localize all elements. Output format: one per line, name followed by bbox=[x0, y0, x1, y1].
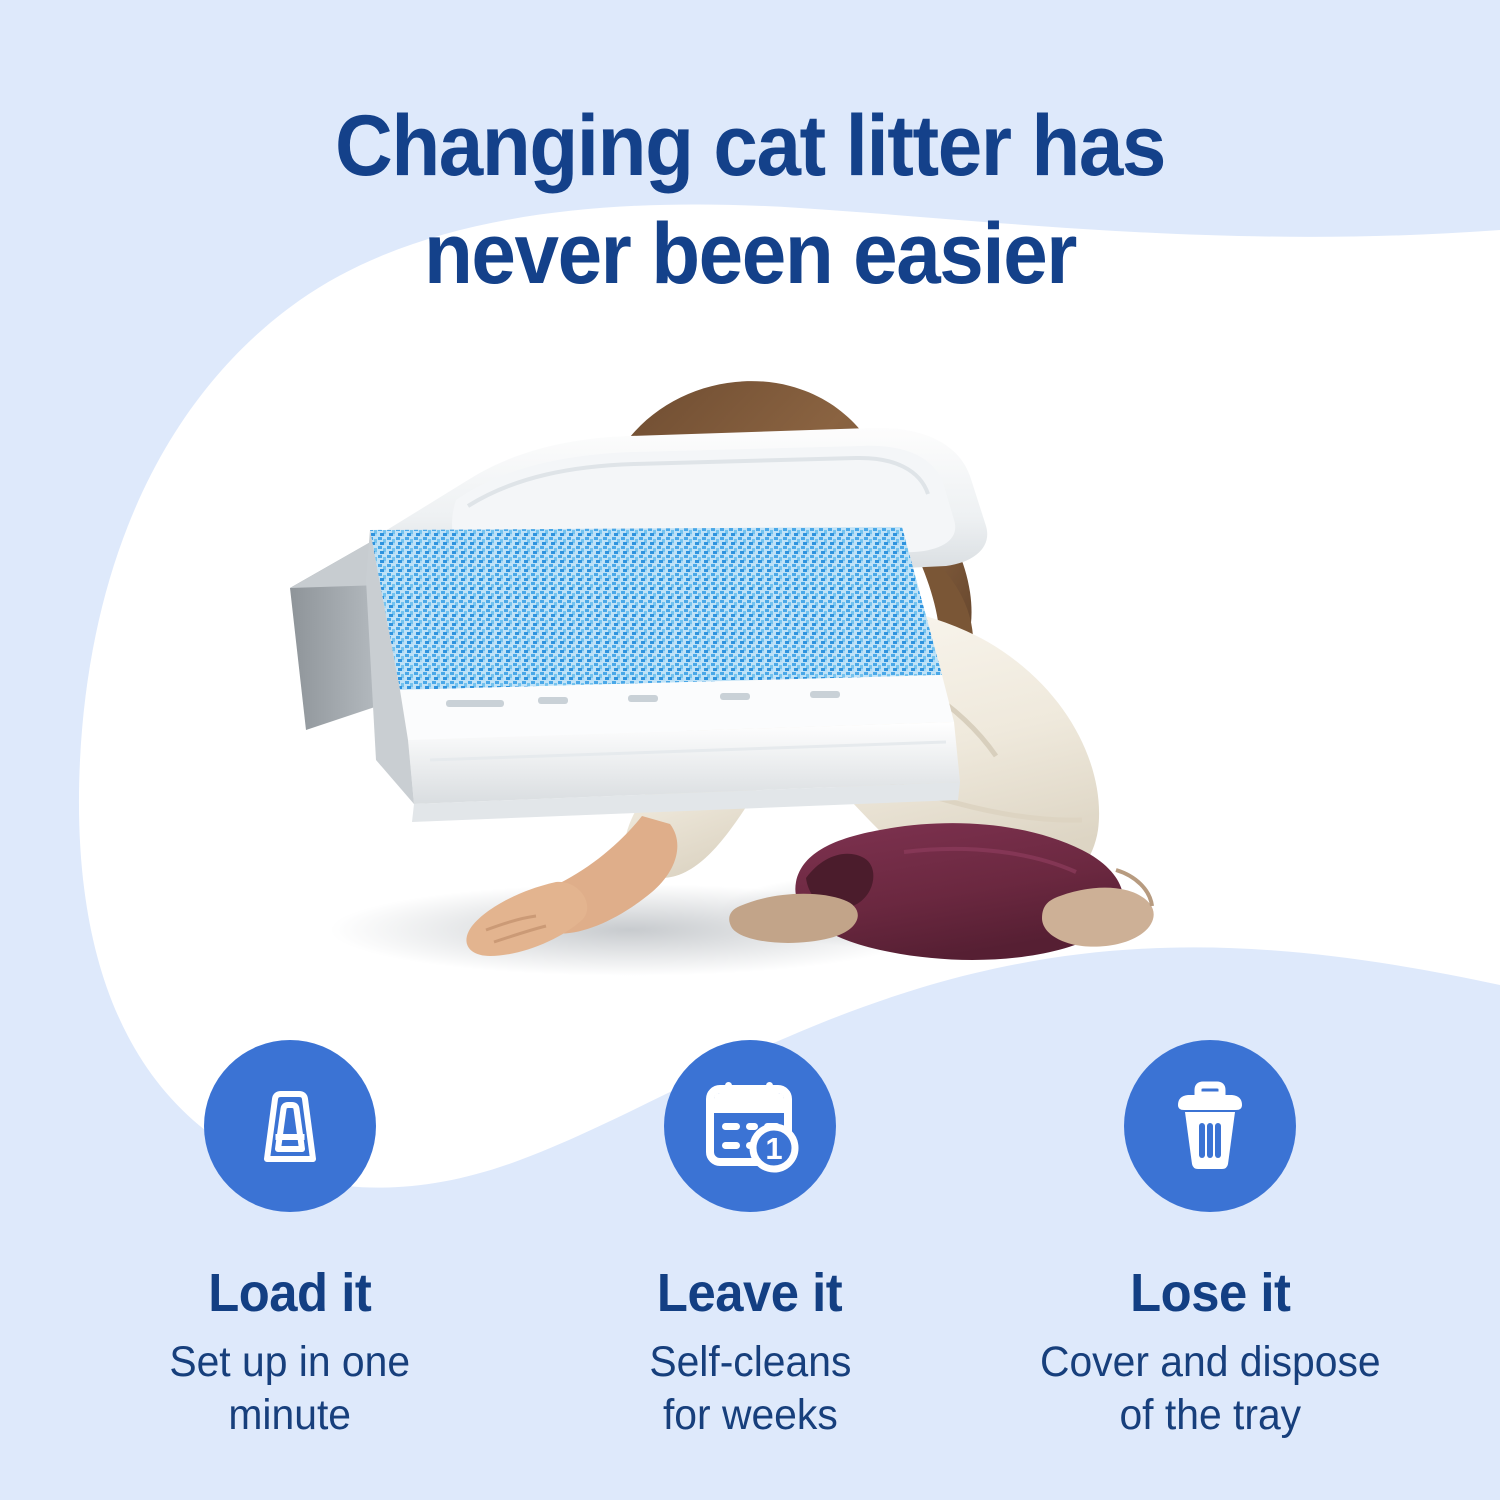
headline-line-1: Changing cat litter has bbox=[53, 92, 1448, 200]
feature-leave-it: 1 Leave it Self-cleans for weeks bbox=[520, 1040, 980, 1470]
litter-tray-icon bbox=[204, 1040, 376, 1212]
feature-lose-it: Lose it Cover and dispose of the tray bbox=[980, 1040, 1440, 1470]
feature-title: Lose it bbox=[1130, 1264, 1290, 1322]
feature-load-it: Load it Set up in one minute bbox=[60, 1040, 520, 1470]
calendar-badge-number: 1 bbox=[765, 1131, 782, 1166]
feature-title: Leave it bbox=[657, 1264, 842, 1322]
feature-title: Load it bbox=[208, 1264, 371, 1322]
infographic-canvas: Changing cat litter has never been easie… bbox=[0, 0, 1500, 1500]
product-hero-photo: PetSafe bbox=[270, 330, 1170, 1030]
feature-description: Self-cleans for weeks bbox=[649, 1336, 851, 1442]
calendar-one-icon: 1 bbox=[664, 1040, 836, 1212]
feature-description: Cover and dispose of the tray bbox=[1040, 1336, 1381, 1442]
feature-description: Set up in one minute bbox=[170, 1336, 411, 1442]
trash-can-icon bbox=[1124, 1040, 1296, 1212]
headline-line-2: never been easier bbox=[53, 200, 1448, 308]
litter-box-product: PetSafe bbox=[290, 428, 987, 822]
feature-row: Load it Set up in one minute bbox=[60, 1040, 1440, 1470]
page-title: Changing cat litter has never been easie… bbox=[0, 92, 1500, 308]
